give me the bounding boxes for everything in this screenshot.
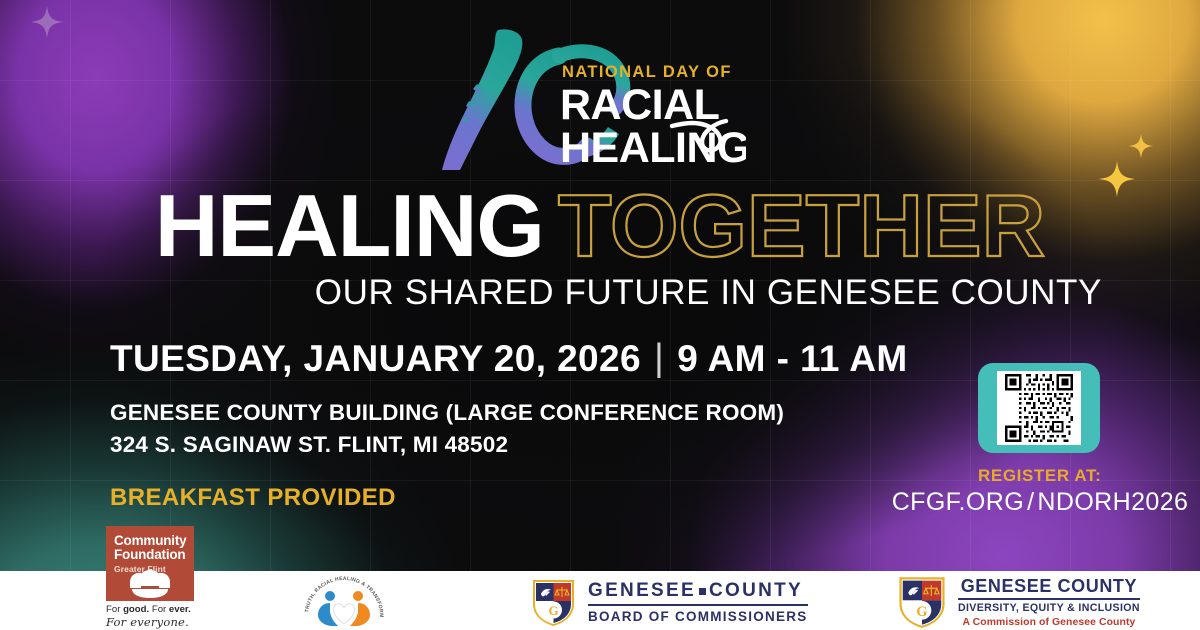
register-prompt: REGISTER AT: <box>978 466 1100 486</box>
event-venue: GENESEE COUNTY BUILDING (LARGE CONFERENC… <box>110 397 908 461</box>
event-time: 9 AM - 11 AM <box>677 340 907 379</box>
gcdei-line-1: GENESEE COUNTY <box>958 576 1140 600</box>
event-venue-line-1: GENESEE COUNTY BUILDING (LARGE CONFERENC… <box>110 397 908 429</box>
national-day-of-racial-healing-logo: NATIONAL DAY OF RACIAL HEALING <box>436 22 746 172</box>
gcboc-line-1: GENESEECOUNTY <box>588 580 808 606</box>
event-separator: | <box>654 339 664 379</box>
sponsor-logo-community-foundation: Community Foundation Greater Flint For g… <box>106 526 202 630</box>
qr-code[interactable] <box>997 371 1081 445</box>
trht-heart-icon <box>333 604 354 624</box>
event-venue-line-2: 324 S. SAGINAW ST. FLINT, MI 48502 <box>110 429 908 461</box>
logo-eyebrow-text: NATIONAL DAY OF <box>562 63 732 81</box>
headline-word-together: TOGETHER <box>544 176 1045 275</box>
sponsor-logo-board-of-commissioners: G GENESEECOUNTY BOARD OF COMMISSIONERS <box>530 577 808 627</box>
event-when-row: TUESDAY, JANUARY 20, 2026 | 9 AM - 11 AM <box>110 340 908 380</box>
dei-crest-monogram: G <box>916 604 927 620</box>
headline-subtitle: OUR SHARED FUTURE IN GENESEE COUNTY <box>315 275 1102 310</box>
cfgf-logo-box: Community Foundation Greater Flint <box>106 526 194 601</box>
headline-word-healing: HEALING <box>155 176 544 275</box>
sponsor-logo-diversity-equity-inclusion: G GENESEE COUNTY DIVERSITY, EQUITY & INC… <box>896 574 1140 629</box>
event-extra-note: BREAKFAST PROVIDED <box>110 484 908 512</box>
qr-code-pattern <box>1000 374 1078 442</box>
gcboc-line-2: BOARD OF COMMISSIONERS <box>588 609 808 624</box>
register-url[interactable]: CFGF.ORG/NDORH2026 <box>870 488 1200 517</box>
cfgf-tagline: For good. For ever. For everyone. <box>106 604 202 630</box>
sponsor-logo-trht: TRUTH, RACIAL HEALING & TRANSFORMATION <box>292 574 396 628</box>
gcdei-line-3: A Commission of Genesee County <box>958 617 1140 628</box>
event-date: TUESDAY, JANUARY 20, 2026 <box>110 340 641 379</box>
gcdei-line-2: DIVERSITY, EQUITY & INCLUSION <box>958 602 1140 614</box>
register-url-domain: CFGF.ORG <box>892 488 1024 516</box>
board-of-commissioners-text: GENESEECOUNTY BOARD OF COMMISSIONERS <box>588 580 808 624</box>
genesee-county-crest-icon: G <box>530 577 577 627</box>
genesee-county-dei-crest-icon: G <box>896 574 948 629</box>
crest-monogram: G <box>548 603 558 618</box>
register-url-path: NDORH2026 <box>1037 488 1188 516</box>
event-details: TUESDAY, JANUARY 20, 2026 | 9 AM - 11 AM… <box>110 340 908 512</box>
page-title: HEALINGTOGETHER <box>0 182 1200 270</box>
qr-code-card[interactable] <box>978 363 1100 453</box>
dei-text-block: GENESEE COUNTY DIVERSITY, EQUITY & INCLU… <box>958 576 1140 628</box>
flyer-canvas: NATIONAL DAY OF RACIAL HEALING HEALINGTO… <box>0 0 1200 630</box>
cfgf-tagline-line-2: For everyone. <box>106 616 202 630</box>
brush-one-stroke <box>442 29 522 170</box>
register-url-slash: / <box>1024 488 1037 516</box>
sparkle-icon-top-left <box>30 5 64 39</box>
sparkle-icon-top-right-small <box>1128 133 1154 159</box>
cfgf-line-1: Community <box>114 534 186 548</box>
gcboc-square-separator-icon <box>699 588 706 595</box>
registration-block: REGISTER AT: CFGF.ORG/NDORH2026 <box>978 363 1100 486</box>
cfgf-tulip-icon <box>124 568 176 603</box>
cfgf-line-2: Foundation <box>114 548 186 562</box>
